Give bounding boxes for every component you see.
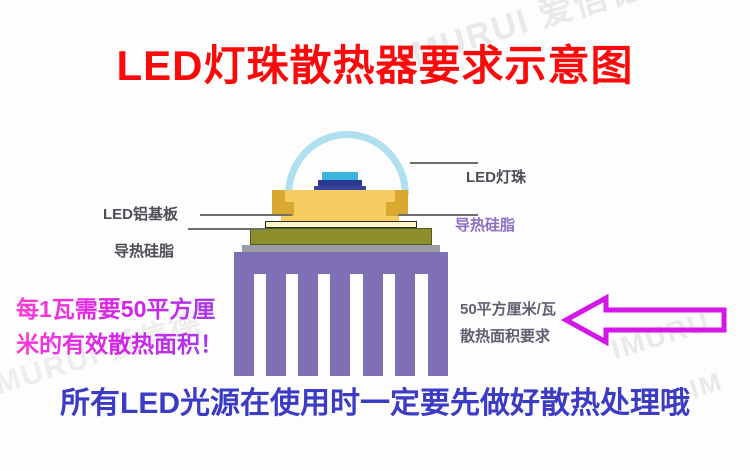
heatsink-fin: [428, 274, 448, 376]
bottom-banner-text: 所有LED光源在使用时一定要先做好散热处理哦: [0, 378, 750, 422]
label-thermal-grease-left: 导热硅脂: [114, 240, 174, 261]
thermal-grease-lower-layer: [242, 245, 440, 252]
aluminum-pcb-layer: [250, 228, 432, 245]
heatsink-fin: [395, 274, 415, 376]
thermal-grease-upper-layer: [265, 221, 417, 228]
note-right-line2: 散热面积要求: [460, 323, 556, 350]
heatsink-fin: [363, 274, 383, 376]
label-led-lamp-bead: LED灯珠: [466, 166, 526, 187]
leader-line-led-bead: [410, 162, 478, 164]
note-left-line2: 米的有效散热面积！: [16, 327, 261, 362]
note-left-line1: 每1瓦需要50平方厘: [16, 292, 261, 327]
heatsink-fin: [330, 274, 350, 376]
diagram-canvas: IMURUI 爱信德 IMURUI 爱信德 IMURU IM LED灯珠散热器要…: [0, 0, 750, 471]
led-package-right-notch: [383, 190, 395, 202]
heat-dissipation-requirement-note: 每1瓦需要50平方厘 米的有效散热面积！: [16, 292, 261, 362]
leader-line-aluminum-pcb: [200, 214, 292, 216]
leader-line-thermal-grease-l: [188, 228, 266, 230]
area-requirement-note: 50平方厘米/瓦 散热面积要求: [460, 296, 556, 350]
heatsink-base: [234, 252, 448, 274]
led-chip-top-icon: [322, 172, 358, 180]
heatsink-fins: [234, 274, 448, 376]
label-thermal-grease-right: 导热硅脂: [455, 214, 515, 235]
led-package-left-notch: [285, 190, 297, 202]
label-led-aluminum-pcb: LED铝基板: [103, 203, 178, 224]
heatsink-fin: [266, 274, 286, 376]
heatsink-fin: [298, 274, 318, 376]
left-pointing-arrow-icon: [560, 292, 730, 348]
note-right-line1: 50平方厘米/瓦: [460, 296, 556, 323]
